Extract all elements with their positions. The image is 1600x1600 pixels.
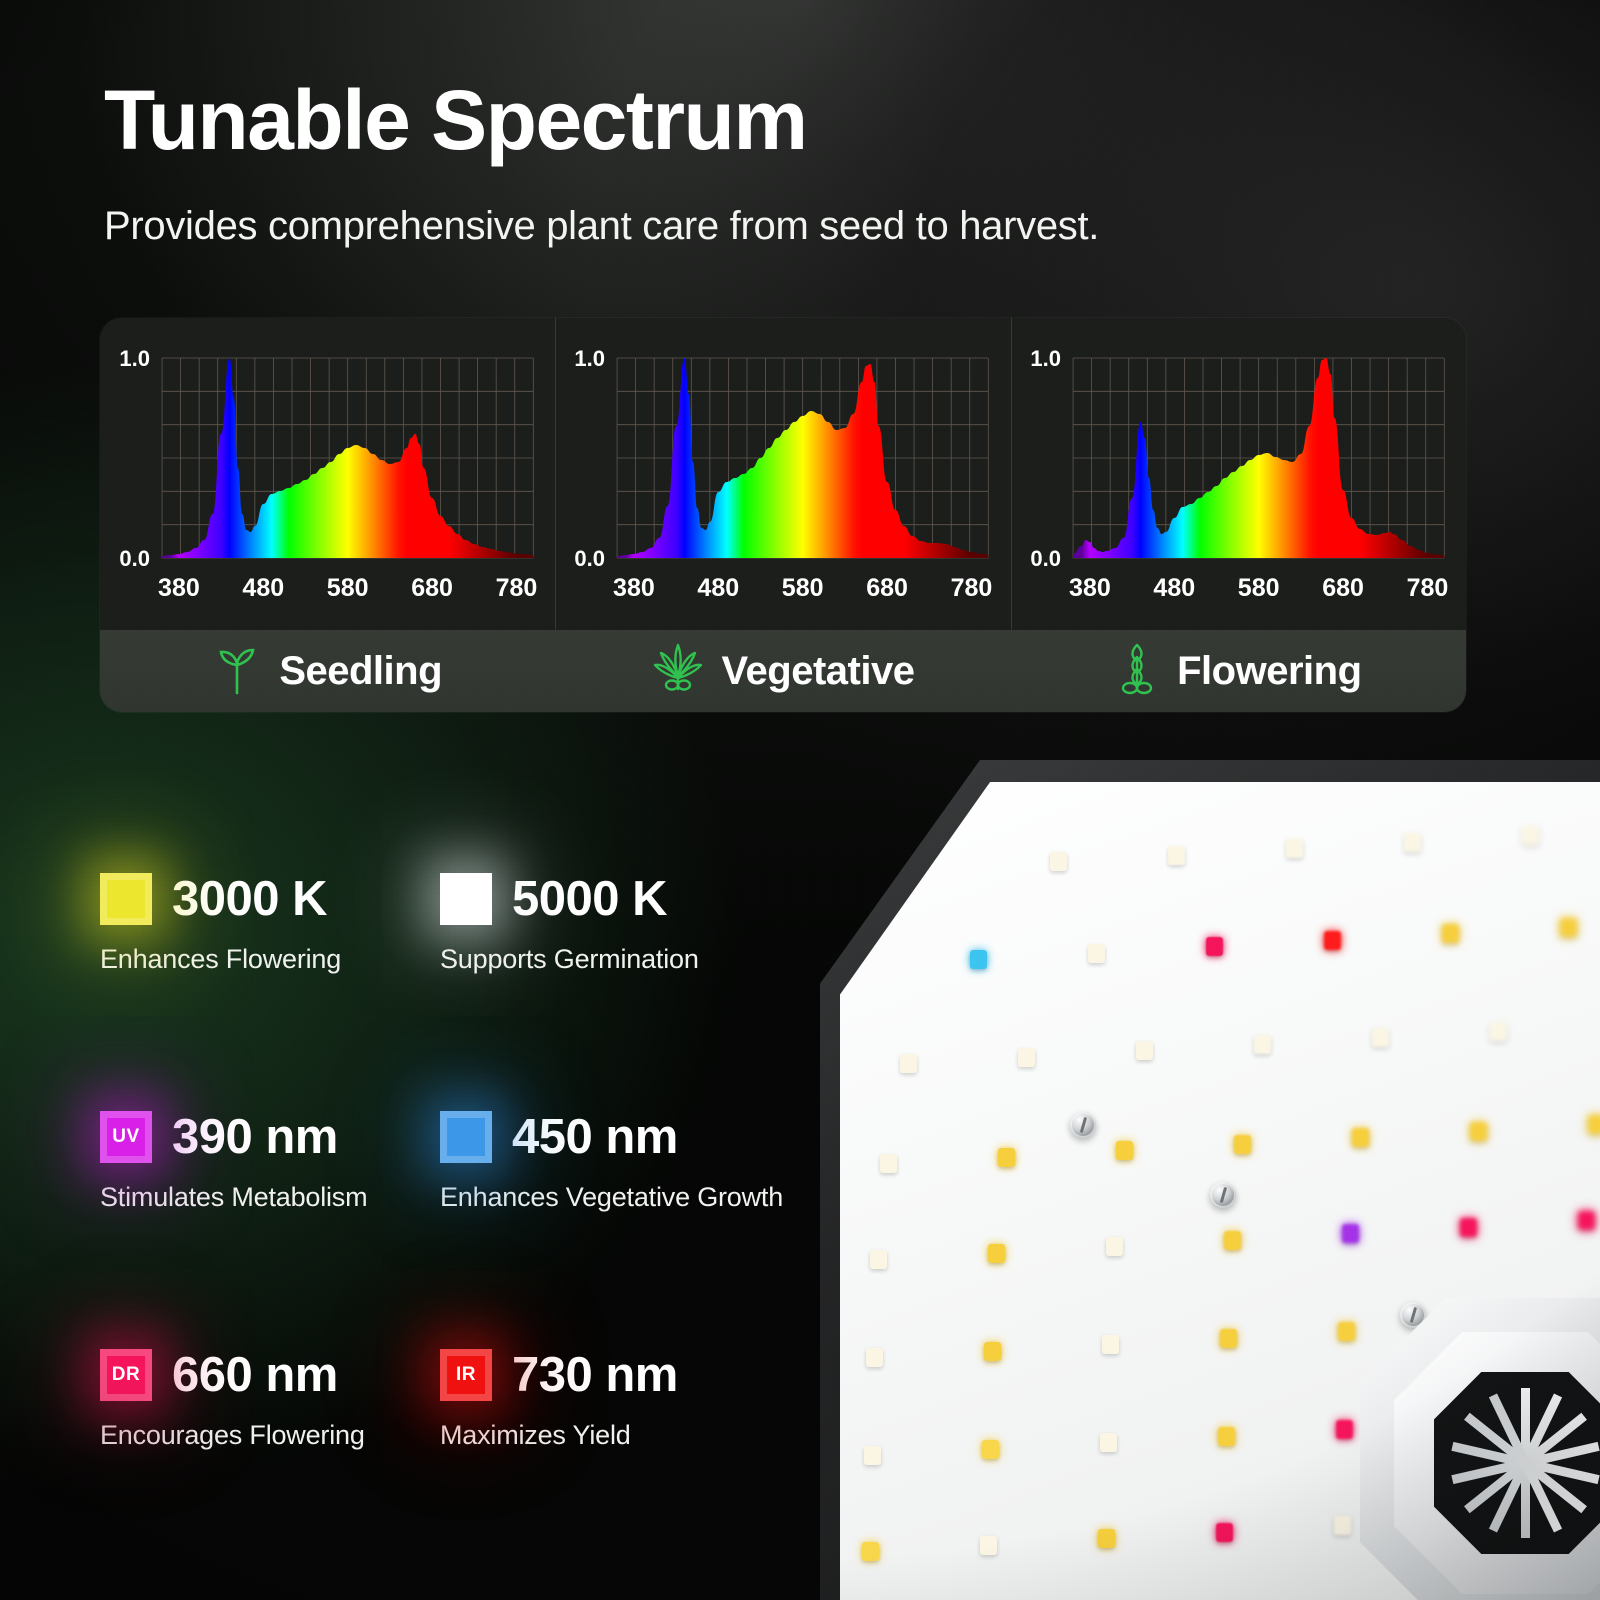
spectrum-plot-2: 1.00.0380480580680780 (1011, 318, 1466, 630)
svg-text:680: 680 (867, 574, 909, 602)
spectrum-chart-flowering: 1.00.0380480580680780 (1011, 318, 1466, 630)
svg-text:680: 680 (1322, 574, 1364, 602)
led-diode (1234, 1135, 1251, 1154)
led-diode (1088, 944, 1105, 963)
spec-item-3000k[interactable]: 3000 K Enhances Flowering (100, 868, 440, 975)
stage-item-flowering[interactable]: Flowering (1011, 641, 1466, 702)
led-diode (1116, 1141, 1133, 1160)
led-diode (1100, 1433, 1117, 1452)
color-swatch-5000k (440, 873, 492, 925)
led-diode (900, 1054, 917, 1073)
svg-text:380: 380 (158, 574, 200, 602)
page-subtitle: Provides comprehensive plant care from s… (104, 204, 1444, 248)
led-diode (862, 1542, 879, 1561)
led-diode (1442, 924, 1459, 943)
led-diode (1470, 1122, 1487, 1141)
led-diode (1106, 1237, 1123, 1256)
led-diode (1352, 1128, 1369, 1147)
led-diode (1522, 826, 1539, 845)
led-diode (984, 1342, 1001, 1361)
flower-bud-icon (1115, 641, 1159, 702)
svg-text:780: 780 (1406, 574, 1448, 602)
svg-text:580: 580 (782, 574, 824, 602)
led-diode (1286, 839, 1303, 858)
spectrum-chart-vegetative: 1.00.0380480580680780 (555, 318, 1010, 630)
svg-text:0.0: 0.0 (1030, 546, 1061, 571)
infographic-canvas: Tunable Spectrum Provides comprehensive … (0, 0, 1600, 1600)
spectrum-card: 1.00.0380480580680780 1.00.0380480580680… (100, 318, 1466, 712)
spec-item-450nm[interactable]: 450 nm Enhances Vegetative Growth (440, 1106, 780, 1213)
led-diode (1460, 1218, 1477, 1237)
fan-ring-inner (1434, 1372, 1600, 1554)
led-diode (1206, 937, 1223, 956)
led-diode (988, 1244, 1005, 1263)
spectrum-plot-1: 1.00.0380480580680780 (555, 318, 1010, 630)
led-diode (970, 950, 987, 969)
spec-description: Enhances Flowering (100, 944, 440, 975)
stage-label: Seedling (279, 649, 442, 694)
led-diode (998, 1148, 1015, 1167)
spec-item-5000k[interactable]: 5000 K Supports Germination (440, 868, 780, 975)
spectrum-chart-seedling: 1.00.0380480580680780 (100, 318, 555, 630)
svg-text:1.0: 1.0 (1030, 346, 1061, 371)
led-diode (1338, 1322, 1355, 1341)
led-diode (1098, 1529, 1115, 1548)
spec-value: 3000 K (172, 871, 327, 927)
spec-description: Maximizes Yield (440, 1420, 780, 1451)
svg-text:480: 480 (698, 574, 740, 602)
led-diode (1018, 1048, 1035, 1067)
spec-item-660nm[interactable]: DR 660 nm Encourages Flowering (100, 1344, 440, 1451)
stage-label: Vegetative (722, 649, 915, 694)
svg-text:480: 480 (1153, 574, 1195, 602)
spec-item-390nm[interactable]: UV 390 nm Stimulates Metabolism (100, 1106, 440, 1213)
spec-item-730nm[interactable]: IR 730 nm Maximizes Yield (440, 1344, 780, 1451)
spec-row: DR 660 nm Encourages Flowering IR 730 nm… (100, 1344, 820, 1451)
spec-description: Enhances Vegetative Growth (440, 1182, 780, 1213)
spec-value: 660 nm (172, 1347, 338, 1403)
svg-text:1.0: 1.0 (575, 346, 606, 371)
led-diode (1168, 846, 1185, 865)
led-diode (1136, 1041, 1153, 1060)
led-diode (1216, 1523, 1233, 1542)
spec-description: Encourages Flowering (100, 1420, 440, 1451)
spec-value: 730 nm (512, 1347, 678, 1403)
dr-badge: DR (100, 1349, 152, 1401)
header-block: Tunable Spectrum Provides comprehensive … (104, 78, 1444, 248)
led-diode (1490, 1022, 1507, 1041)
led-diode (1342, 1224, 1359, 1243)
stage-item-seedling[interactable]: Seedling (100, 641, 555, 702)
svg-text:780: 780 (496, 574, 538, 602)
spec-value: 390 nm (172, 1109, 338, 1165)
led-diode (866, 1348, 883, 1367)
led-diode (864, 1446, 881, 1465)
svg-text:580: 580 (1237, 574, 1279, 602)
stage-label: Flowering (1177, 649, 1361, 694)
spectrum-charts-row: 1.00.0380480580680780 1.00.0380480580680… (100, 318, 1466, 630)
led-diode (980, 1536, 997, 1555)
led-diode (1334, 1516, 1351, 1535)
led-grow-light-panel (812, 742, 1600, 1600)
led-diode (1404, 833, 1421, 852)
stage-legend-bar: Seedling Vegetative (100, 630, 1466, 712)
led-diode (982, 1440, 999, 1459)
svg-text:580: 580 (327, 574, 369, 602)
spec-description: Supports Germination (440, 944, 780, 975)
ir-badge: IR (440, 1349, 492, 1401)
led-diode (880, 1154, 897, 1173)
panel-screw (1210, 1182, 1236, 1208)
panel-screw (1070, 1112, 1096, 1138)
page-title: Tunable Spectrum (104, 78, 1444, 162)
cannabis-leaf-icon (652, 641, 704, 702)
svg-text:780: 780 (951, 574, 993, 602)
uv-badge: UV (100, 1111, 152, 1163)
led-diode (1578, 1211, 1595, 1230)
led-diode (1560, 918, 1577, 937)
svg-text:480: 480 (242, 574, 284, 602)
sprout-icon (213, 641, 261, 702)
led-diode (1218, 1427, 1235, 1446)
led-diode (1336, 1420, 1353, 1439)
led-diode (1588, 1115, 1600, 1134)
led-diode (1372, 1028, 1389, 1047)
spec-row: UV 390 nm Stimulates Metabolism 450 nm E… (100, 1106, 820, 1213)
spec-value: 450 nm (512, 1109, 678, 1165)
svg-text:380: 380 (1069, 574, 1111, 602)
svg-text:0.0: 0.0 (575, 546, 606, 571)
svg-text:680: 680 (411, 574, 453, 602)
color-swatch-450nm (440, 1111, 492, 1163)
led-diode (1224, 1231, 1241, 1250)
svg-text:0.0: 0.0 (119, 546, 150, 571)
spec-value: 5000 K (512, 871, 667, 927)
spec-row: 3000 K Enhances Flowering 5000 K Support… (100, 868, 820, 975)
svg-text:380: 380 (613, 574, 655, 602)
stage-item-vegetative[interactable]: Vegetative (555, 641, 1010, 702)
spectrum-plot-0: 1.00.0380480580680780 (100, 318, 555, 630)
spec-grid: 3000 K Enhances Flowering 5000 K Support… (100, 868, 820, 1451)
led-diode (870, 1250, 887, 1269)
led-diode (1102, 1335, 1119, 1354)
led-diode (1050, 852, 1067, 871)
led-diode (1324, 931, 1341, 950)
spec-description: Stimulates Metabolism (100, 1182, 440, 1213)
led-diode (1220, 1329, 1237, 1348)
svg-text:1.0: 1.0 (119, 346, 150, 371)
color-swatch-3000k (100, 873, 152, 925)
led-diode (1254, 1035, 1271, 1054)
